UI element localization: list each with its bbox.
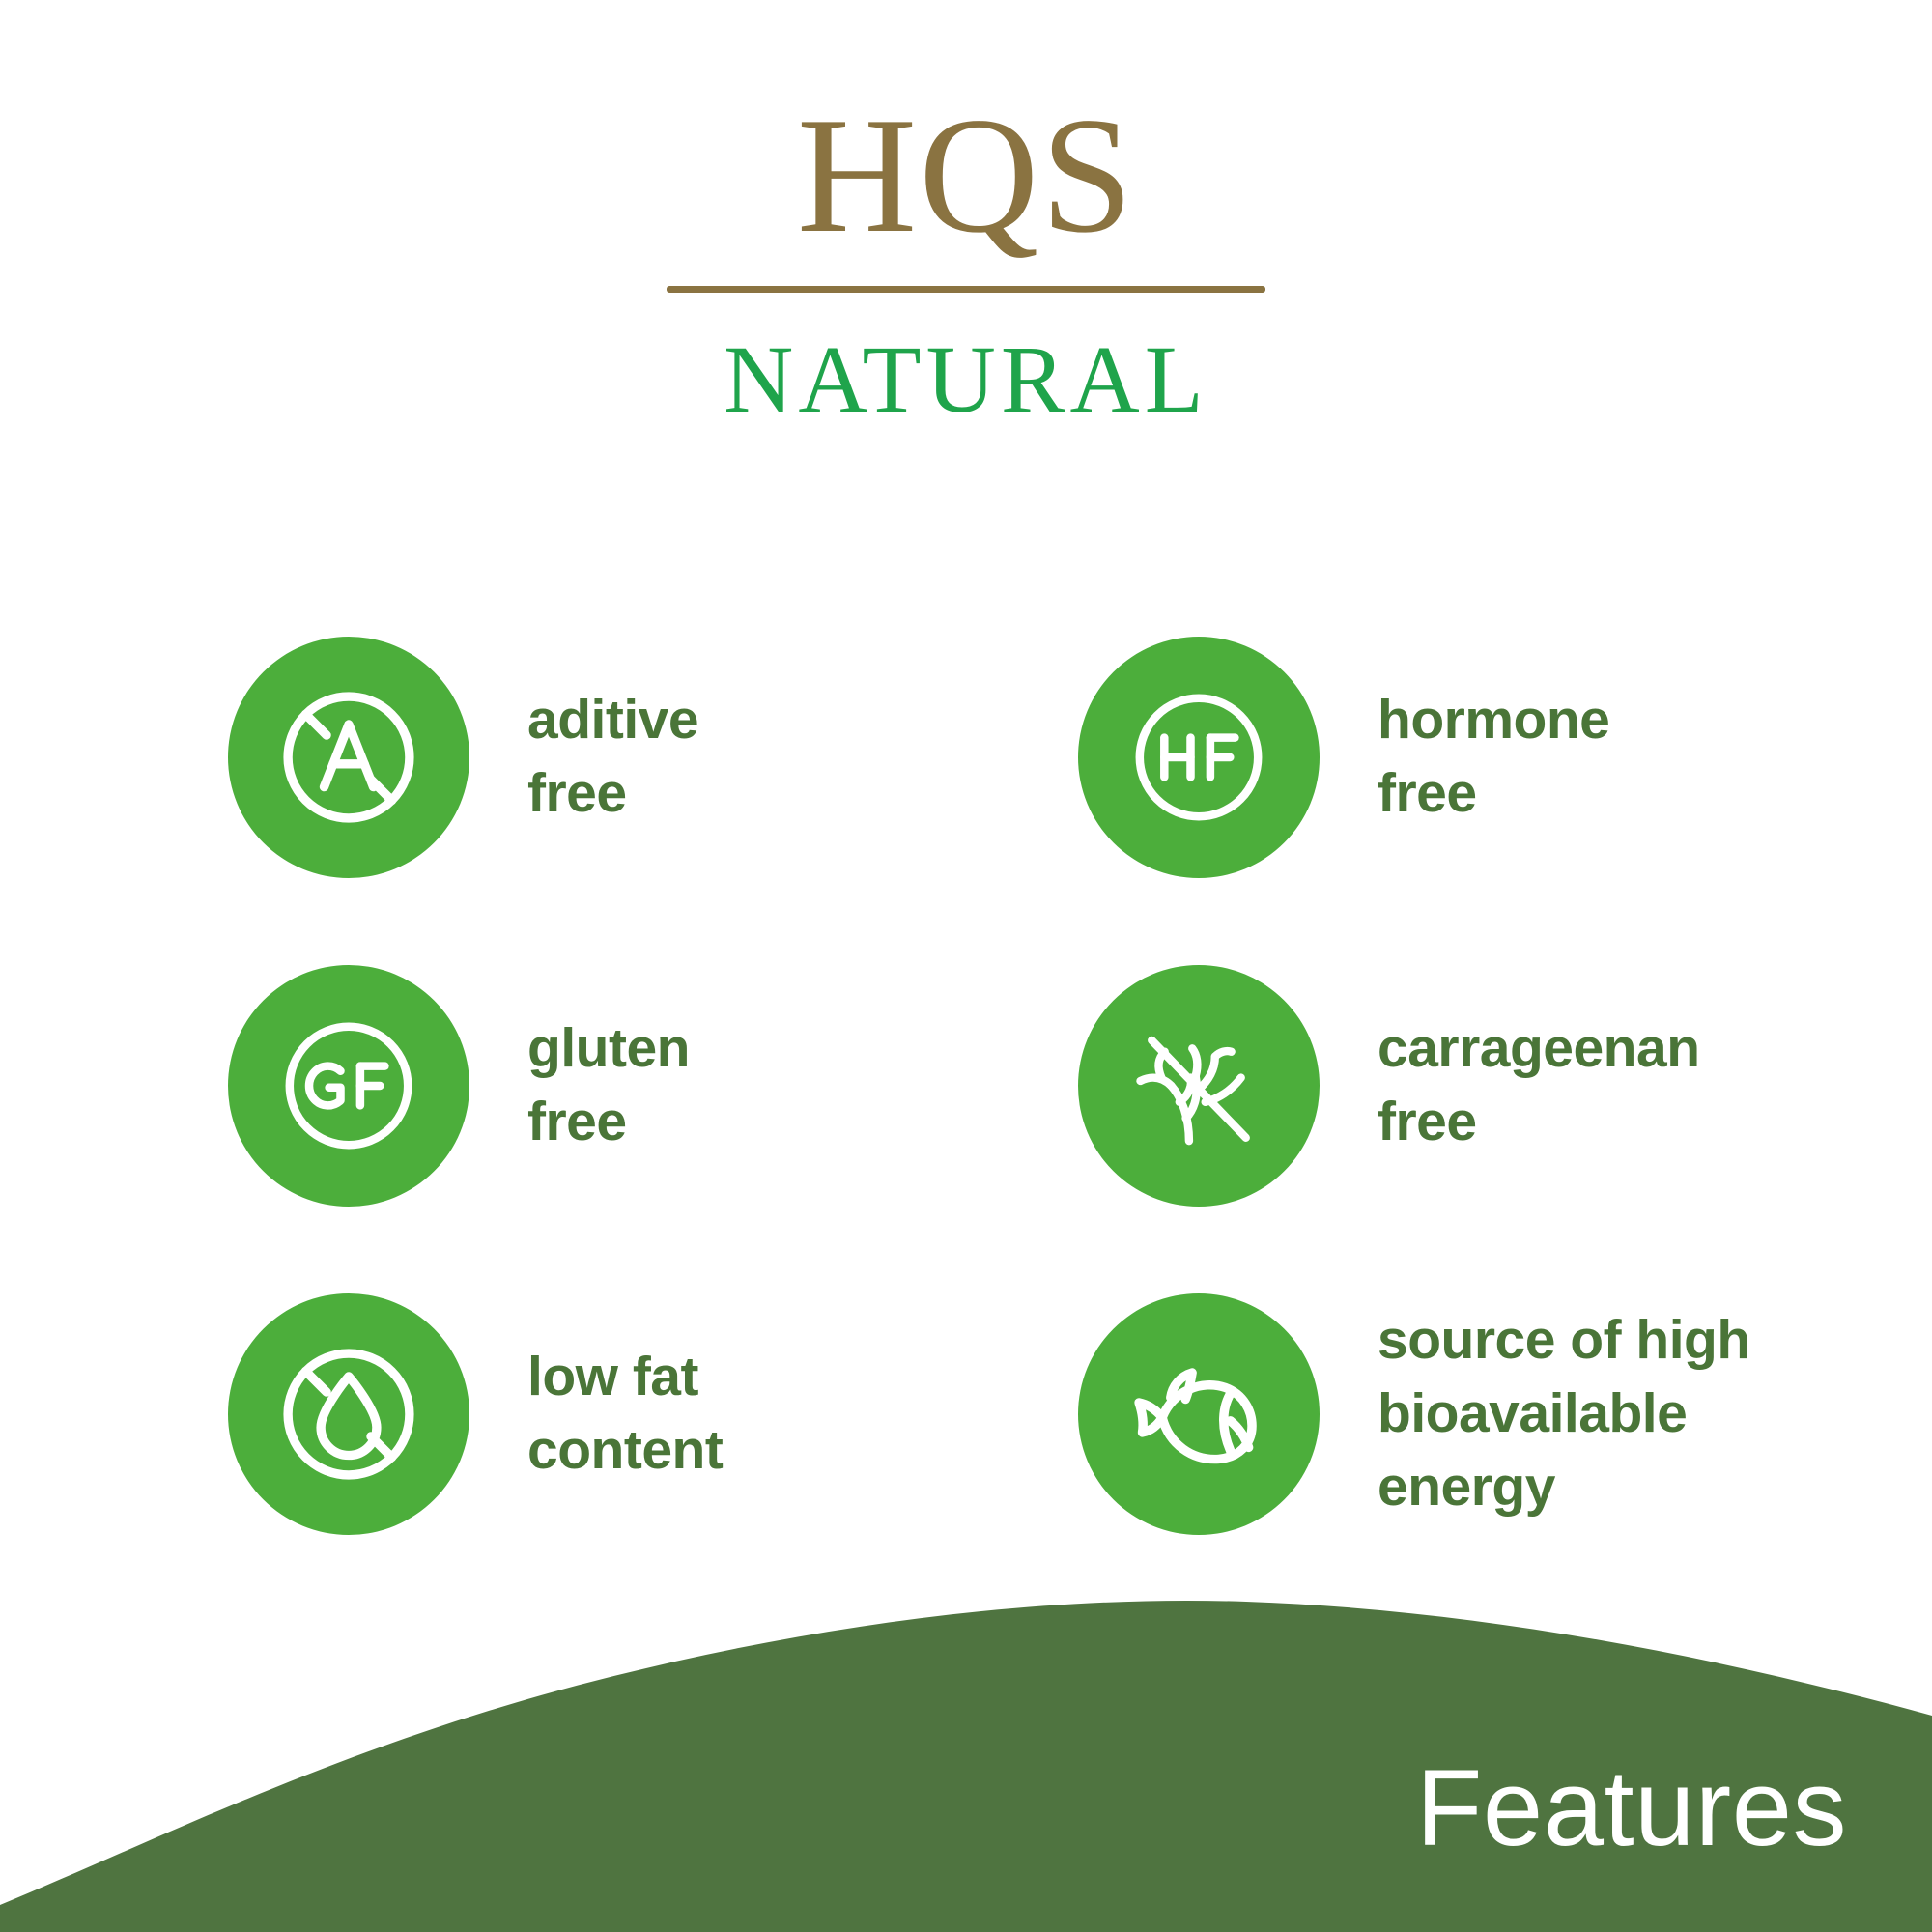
no-additive-icon (267, 675, 431, 839)
feature-label-line: free (1378, 1086, 1700, 1159)
feature-label: aditive free (527, 684, 698, 831)
feature-label-line: hormone (1378, 684, 1609, 757)
feature-item-carrageenan-free: carrageenan free (1078, 922, 1928, 1250)
feature-label: carrageenan free (1378, 1012, 1700, 1159)
bottom-wave-decoration (0, 1526, 1932, 1932)
feature-label-line: free (527, 1086, 690, 1159)
feature-item-gluten-free: gluten free (228, 922, 1078, 1250)
feature-item-low-fat-content: low fat content (228, 1250, 1078, 1578)
footer-title: Features (1416, 1754, 1847, 1862)
feature-label: low fat content (527, 1341, 723, 1488)
badge-circle (1078, 637, 1320, 878)
infographic-page: HQS NATURAL aditive free (0, 0, 1932, 1932)
badge-circle (1078, 1293, 1320, 1535)
wave-shape (0, 1526, 1932, 1932)
feature-label-line: aditive (527, 684, 698, 757)
feature-label-line: free (527, 757, 698, 831)
feature-label: source of high bioavailable energy (1378, 1304, 1750, 1523)
feature-label-line: carrageenan (1378, 1012, 1700, 1086)
feature-label: gluten free (527, 1012, 690, 1159)
feature-label-line: free (1378, 757, 1609, 831)
brand-wordmark: HQS (0, 93, 1932, 259)
brand-logo: HQS NATURAL (0, 93, 1932, 428)
feature-label: hormone free (1378, 684, 1609, 831)
feature-label-line: source of high (1378, 1304, 1750, 1378)
feature-label-line: gluten (527, 1012, 690, 1086)
feature-label-line: low fat (527, 1341, 723, 1414)
badge-circle (228, 1293, 469, 1535)
badge-circle (228, 637, 469, 878)
hormone-free-icon (1117, 675, 1281, 839)
badge-circle (228, 965, 469, 1207)
gluten-free-icon (267, 1004, 431, 1168)
badge-circle (1078, 965, 1320, 1207)
feature-item-hormone-free: hormone free (1078, 593, 1928, 922)
no-carrageenan-seaweed-icon (1118, 1005, 1280, 1167)
feature-label-line: content (527, 1414, 723, 1488)
feature-label-line: energy (1378, 1451, 1750, 1524)
brand-divider-rule (667, 286, 1265, 293)
feature-label-line: bioavailable (1378, 1378, 1750, 1451)
brand-subtitle: NATURAL (0, 331, 1932, 428)
fish-icon (1116, 1331, 1282, 1497)
no-fat-droplet-icon (267, 1332, 431, 1496)
feature-item-bioavailable-energy: source of high bioavailable energy (1078, 1250, 1928, 1578)
features-grid: aditive free (228, 593, 1928, 1578)
feature-item-aditive-free: aditive free (228, 593, 1078, 922)
